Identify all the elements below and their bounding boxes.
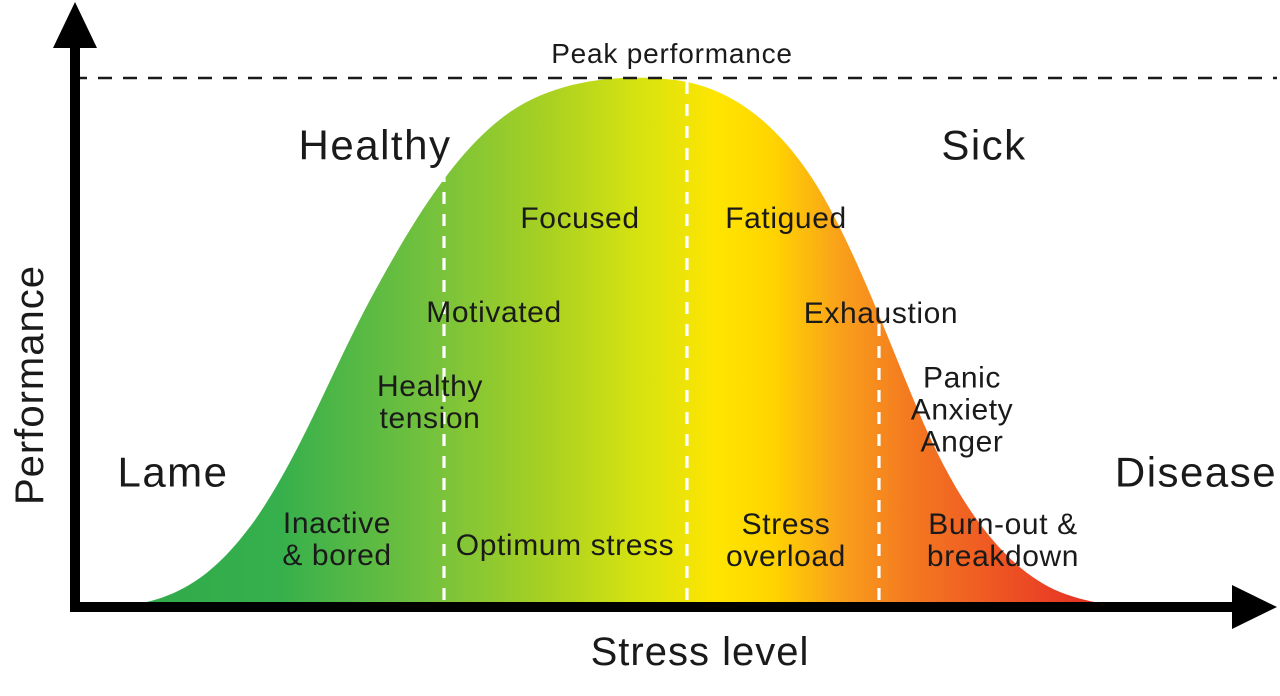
stress-performance-chart [0, 0, 1280, 696]
zone-label-sick: Sick [941, 124, 1026, 169]
x-axis-arrow-icon [1232, 585, 1277, 629]
segment-label-optimum-stress: Optimum stress [456, 530, 674, 562]
segment-label-motivated: Motivated [426, 297, 561, 329]
zone-label-disease: Disease [1115, 451, 1277, 496]
zone-label-lame: Lame [117, 451, 228, 496]
y-axis-arrow-icon [53, 2, 97, 48]
x-axis-label: Stress level [591, 631, 810, 673]
y-axis-label: Performance [9, 265, 51, 505]
segment-label-inactive: Inactive & bored [282, 508, 391, 572]
segment-label-burnout: Burn-out & breakdown [927, 509, 1079, 573]
segment-label-fatigued: Fatigued [725, 203, 847, 235]
segment-label-healthy-tension: Healthy tension [377, 371, 483, 435]
y-axis [53, 2, 97, 612]
peak-performance-label: Peak performance [551, 39, 793, 69]
segment-label-stress-overload: Stress overload [726, 509, 846, 573]
segment-label-focused: Focused [520, 203, 639, 235]
segment-label-panic: Panic Anxiety Anger [911, 362, 1014, 457]
zone-label-healthy: Healthy [299, 124, 452, 169]
segment-label-exhaustion: Exhaustion [804, 298, 958, 330]
diagram-canvas: Performance Stress level Peak performanc… [0, 0, 1280, 696]
